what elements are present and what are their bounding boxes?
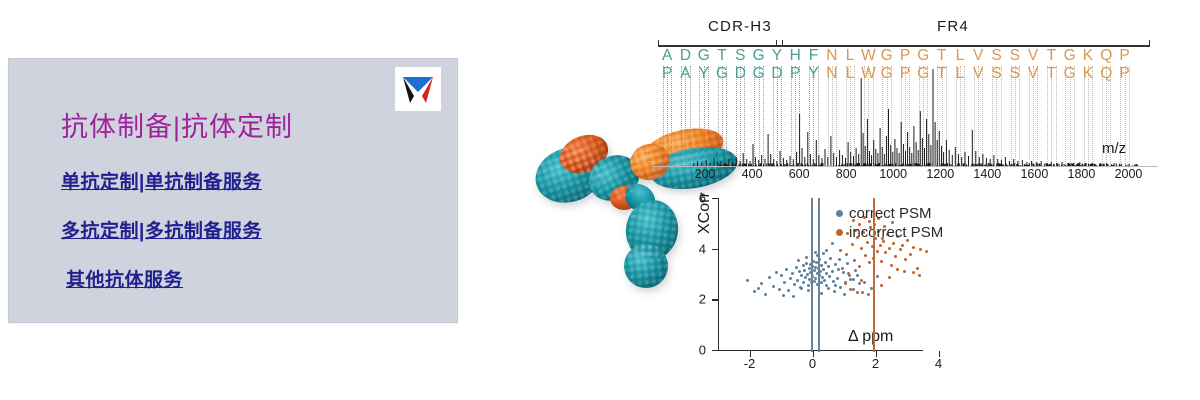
scatter-data-point bbox=[909, 253, 912, 256]
scatter-data-point bbox=[890, 264, 893, 267]
scatter-y-tick-label: 0 bbox=[684, 343, 706, 358]
xcorr-scatter-chart: XCorr Δ ppm correct PSMincorrect PSM 024… bbox=[670, 190, 970, 375]
residue-fr: S bbox=[1006, 48, 1024, 64]
residue-fr: W bbox=[859, 48, 877, 64]
residue-cdr: Y bbox=[768, 48, 786, 64]
scatter-data-point bbox=[901, 244, 904, 247]
promo-panel: 抗体制备|抗体定制 单抗定制|单抗制备服务 多抗定制|多抗制备服务 其他抗体服务 bbox=[8, 58, 458, 323]
scatter-data-point bbox=[778, 288, 781, 291]
mass-spectrum-chart: m/z 200400600800100012001400160018002000 bbox=[652, 66, 1192, 186]
scatter-data-point bbox=[789, 277, 792, 280]
scatter-y-axis bbox=[718, 198, 719, 350]
scatter-data-point bbox=[757, 287, 760, 290]
scatter-data-point bbox=[783, 281, 786, 284]
scatter-data-point bbox=[852, 278, 855, 281]
residue-fr: L bbox=[841, 48, 859, 64]
scatter-data-point bbox=[919, 248, 922, 251]
mass-spectrum-tick-label: 800 bbox=[836, 167, 857, 181]
residue-cdr: A bbox=[658, 48, 676, 64]
scatter-data-point bbox=[856, 274, 859, 277]
scatter-data-point bbox=[800, 287, 803, 290]
scatter-data-point bbox=[814, 251, 817, 254]
scatter-data-point bbox=[836, 277, 839, 280]
mass-spectrum-tick-label: 1200 bbox=[926, 167, 954, 181]
scatter-data-point bbox=[912, 271, 915, 274]
scatter-data-point bbox=[814, 277, 817, 280]
scatter-data-point bbox=[813, 280, 816, 283]
scatter-data-point bbox=[831, 242, 834, 245]
scatter-data-point bbox=[876, 275, 879, 278]
sequence-row-top: ADGTSGYHFNLWGPGTLVSSVTGKQP bbox=[658, 48, 1134, 64]
scatter-data-point bbox=[802, 281, 805, 284]
scatter-data-point bbox=[839, 286, 842, 289]
scatter-data-point bbox=[894, 255, 897, 258]
scatter-data-point bbox=[791, 272, 794, 275]
scatter-data-point bbox=[839, 249, 842, 252]
scatter-x-tick-label: -2 bbox=[744, 356, 756, 371]
scatter-data-point bbox=[800, 274, 803, 277]
scatter-threshold-line bbox=[811, 198, 813, 352]
legend-dot-icon bbox=[836, 210, 843, 217]
region-divider bbox=[776, 40, 783, 47]
research-figure: CDR-H3 FR4 ADGTSGYHFNLWGPGTLVSSVTGKQP PA… bbox=[500, 0, 1200, 400]
scatter-data-point bbox=[845, 253, 848, 256]
scatter-data-point bbox=[780, 274, 783, 277]
scatter-x-tick-label: 2 bbox=[872, 356, 879, 371]
promo-link-monoclonal[interactable]: 单抗定制|单抗制备服务 bbox=[61, 167, 262, 194]
scatter-data-point bbox=[764, 293, 767, 296]
scatter-data-point bbox=[851, 243, 854, 246]
scatter-data-point bbox=[828, 275, 831, 278]
legend-item[interactable]: incorrect PSM bbox=[836, 223, 943, 242]
legend-label: incorrect PSM bbox=[849, 224, 943, 241]
scatter-data-point bbox=[802, 264, 805, 267]
scatter-data-point bbox=[856, 291, 859, 294]
scatter-data-point bbox=[841, 267, 844, 270]
scatter-data-point bbox=[782, 294, 785, 297]
scatter-data-point bbox=[880, 260, 883, 263]
residue-fr: V bbox=[969, 48, 987, 64]
scatter-data-point bbox=[896, 268, 899, 271]
scatter-data-point bbox=[824, 261, 827, 264]
scatter-data-point bbox=[805, 256, 808, 259]
scatter-data-point bbox=[820, 264, 823, 267]
scatter-data-point bbox=[796, 279, 799, 282]
scatter-data-point bbox=[807, 289, 810, 292]
scatter-data-point bbox=[795, 266, 798, 269]
scatter-data-point bbox=[804, 276, 807, 279]
scatter-y-tickmark bbox=[712, 198, 718, 199]
residue-fr: T bbox=[932, 48, 950, 64]
scatter-data-point bbox=[792, 295, 795, 298]
scatter-data-point bbox=[822, 268, 825, 271]
scatter-data-point bbox=[904, 258, 907, 261]
residue-fr: V bbox=[1024, 48, 1042, 64]
scatter-data-point bbox=[827, 287, 830, 290]
scatter-data-point bbox=[868, 261, 871, 264]
scatter-data-point bbox=[821, 276, 824, 279]
scatter-data-point bbox=[876, 250, 879, 253]
scatter-data-point bbox=[822, 252, 825, 255]
residue-fr: S bbox=[987, 48, 1005, 64]
mass-spectrum-tick-label: 600 bbox=[789, 167, 810, 181]
scatter-data-point bbox=[846, 262, 849, 265]
scatter-y-tick-label: 4 bbox=[684, 241, 706, 256]
scatter-data-point bbox=[838, 258, 841, 261]
scatter-data-point bbox=[820, 281, 823, 284]
scatter-data-point bbox=[863, 281, 866, 284]
residue-cdr: S bbox=[731, 48, 749, 64]
mass-spectrum-xticks: 200400600800100012001400160018002000 bbox=[652, 167, 1158, 187]
scatter-data-point bbox=[760, 282, 763, 285]
scatter-data-point bbox=[852, 288, 855, 291]
scatter-data-point bbox=[829, 257, 832, 260]
residue-fr: N bbox=[823, 48, 841, 64]
mass-spectrum-tick-label: 1400 bbox=[973, 167, 1001, 181]
scatter-data-point bbox=[772, 285, 775, 288]
region-label-fr4: FR4 bbox=[937, 18, 969, 35]
scatter-data-point bbox=[858, 282, 861, 285]
scatter-data-point bbox=[867, 293, 870, 296]
residue-fr: L bbox=[951, 48, 969, 64]
scatter-data-point bbox=[888, 276, 891, 279]
tricolor-chevron-logo-icon bbox=[395, 67, 441, 111]
scatter-y-tickmark bbox=[712, 350, 718, 351]
scatter-threshold-line bbox=[818, 198, 820, 352]
scatter-data-point bbox=[793, 283, 796, 286]
scatter-y-tick-label: 6 bbox=[684, 191, 706, 206]
scatter-data-point bbox=[864, 254, 867, 257]
scatter-data-point bbox=[753, 290, 756, 293]
scatter-data-point bbox=[805, 262, 808, 265]
scatter-data-point bbox=[912, 246, 915, 249]
scatter-x-tick-label: 0 bbox=[809, 356, 816, 371]
scatter-data-point bbox=[820, 292, 823, 295]
scatter-data-point bbox=[803, 269, 806, 272]
scatter-data-point bbox=[861, 291, 864, 294]
residue-fr: P bbox=[896, 48, 914, 64]
promo-link-other-services[interactable]: 其他抗体服务 bbox=[66, 265, 183, 292]
scatter-data-point bbox=[798, 270, 801, 273]
scatter-data-point bbox=[884, 251, 887, 254]
scatter-data-point bbox=[834, 284, 837, 287]
scatter-data-point bbox=[825, 272, 828, 275]
scatter-data-point bbox=[775, 271, 778, 274]
mass-spectrum-peaks bbox=[658, 66, 1152, 166]
scatter-data-point bbox=[844, 282, 847, 285]
scatter-data-point bbox=[768, 276, 771, 279]
mass-spectrum-tick-label: 1600 bbox=[1020, 167, 1048, 181]
mass-spectrum-tick-label: 2000 bbox=[1115, 167, 1143, 181]
residue-fr: G bbox=[878, 48, 896, 64]
scatter-data-point bbox=[916, 267, 919, 270]
scatter-legend: correct PSMincorrect PSM bbox=[836, 204, 943, 242]
residue-fr: K bbox=[1079, 48, 1097, 64]
residue-cdr: F bbox=[804, 48, 822, 64]
legend-label: correct PSM bbox=[849, 205, 932, 222]
residue-fr: G bbox=[1061, 48, 1079, 64]
promo-link-polyclonal[interactable]: 多抗定制|多抗制备服务 bbox=[61, 216, 262, 243]
residue-fr: Q bbox=[1097, 48, 1115, 64]
legend-item[interactable]: correct PSM bbox=[836, 204, 943, 223]
scatter-data-point bbox=[832, 280, 835, 283]
scatter-data-point bbox=[888, 247, 891, 250]
scatter-data-point bbox=[787, 289, 790, 292]
residue-fr: P bbox=[1115, 48, 1133, 64]
scatter-data-point bbox=[858, 265, 861, 268]
scatter-data-point bbox=[785, 268, 788, 271]
scatter-x-tick-label: 4 bbox=[935, 356, 942, 371]
scatter-data-point bbox=[746, 279, 749, 282]
scatter-data-point bbox=[833, 290, 836, 293]
residue-fr: T bbox=[1042, 48, 1060, 64]
scatter-data-point bbox=[825, 249, 828, 252]
scatter-data-point bbox=[823, 279, 826, 282]
scatter-data-point bbox=[860, 247, 863, 250]
mass-spectrum-tick-label: 400 bbox=[742, 167, 763, 181]
scatter-data-point bbox=[854, 269, 857, 272]
scatter-data-point bbox=[842, 271, 845, 274]
mass-spectrum-tick-label: 1000 bbox=[879, 167, 907, 181]
scatter-data-point bbox=[925, 250, 928, 253]
scatter-data-point bbox=[848, 274, 851, 277]
residue-cdr: H bbox=[786, 48, 804, 64]
residue-cdr: D bbox=[676, 48, 694, 64]
legend-dot-icon bbox=[836, 229, 843, 236]
scatter-data-point bbox=[879, 244, 882, 247]
scatter-y-tickmark bbox=[712, 249, 718, 250]
scatter-data-point bbox=[831, 270, 834, 273]
scatter-data-point bbox=[899, 248, 902, 251]
scatter-y-tick-label: 2 bbox=[684, 292, 706, 307]
scatter-y-tickmark bbox=[712, 299, 718, 300]
scatter-data-point bbox=[807, 284, 810, 287]
region-axis bbox=[658, 40, 1150, 47]
mass-spectrum-tick-label: 200 bbox=[695, 167, 716, 181]
residue-fr: G bbox=[914, 48, 932, 64]
mass-spectrum-tick-label: 1800 bbox=[1068, 167, 1096, 181]
scatter-threshold-line bbox=[873, 198, 875, 352]
region-label-cdr-h3: CDR-H3 bbox=[708, 18, 772, 35]
scatter-data-point bbox=[827, 265, 830, 268]
scatter-xlabel: Δ ppm bbox=[848, 328, 893, 346]
scatter-data-point bbox=[834, 263, 837, 266]
scatter-data-point bbox=[843, 293, 846, 296]
scatter-data-point bbox=[918, 274, 921, 277]
mass-spectrum-xlabel: m/z bbox=[1102, 140, 1126, 157]
residue-cdr: G bbox=[695, 48, 713, 64]
scatter-data-point bbox=[797, 259, 800, 262]
page-title: 抗体制备|抗体定制 bbox=[61, 105, 293, 144]
scatter-data-point bbox=[892, 242, 895, 245]
residue-cdr: T bbox=[713, 48, 731, 64]
scatter-data-point bbox=[903, 270, 906, 273]
residue-cdr: G bbox=[749, 48, 767, 64]
scatter-data-point bbox=[853, 259, 856, 262]
scatter-data-point bbox=[880, 284, 883, 287]
